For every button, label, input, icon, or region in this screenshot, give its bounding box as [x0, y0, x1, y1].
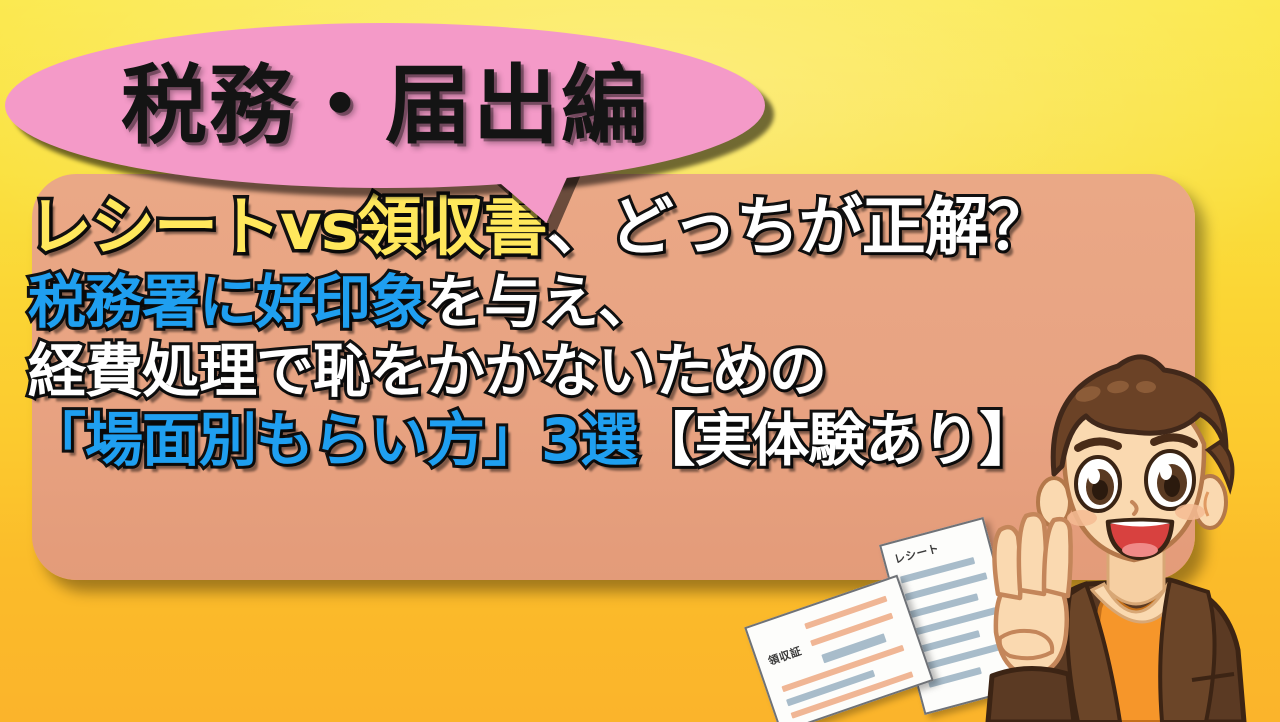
- hair-highlight: [1136, 381, 1156, 393]
- eye-glint-left: [1088, 468, 1100, 484]
- formal-receipt-label: 領収証: [766, 643, 804, 669]
- blush-left: [1067, 510, 1097, 526]
- character-illustration: [958, 332, 1280, 722]
- eye-glint-right: [1160, 464, 1172, 480]
- category-badge-label: 税務・届出編: [5, 23, 765, 188]
- headline-line-3-text: 経費処理で恥をかかないための: [28, 337, 826, 405]
- headline-line-2: 税務署に好印象を与え、: [28, 273, 1208, 331]
- receipt-slip-label: レシート: [892, 540, 941, 567]
- sleeve: [988, 668, 1074, 722]
- headline-line-4-highlight: 「場面別もらい方」3選: [28, 406, 637, 474]
- category-badge-bubble: 税務・届出編: [0, 6, 800, 221]
- blush-right: [1175, 504, 1205, 520]
- tongue: [1122, 543, 1158, 557]
- headline-line-2-rest: を与え、: [427, 268, 655, 336]
- hand-three-fingers: [994, 514, 1070, 676]
- thumbnail-canvas: レシートvs領収書、どっちが正解？ 税務署に好印象を与え、 経費処理で恥をかかな…: [0, 0, 1280, 722]
- headline-line-2-highlight: 税務署に好印象: [28, 268, 427, 336]
- jacket-lapel-right: [1160, 580, 1214, 722]
